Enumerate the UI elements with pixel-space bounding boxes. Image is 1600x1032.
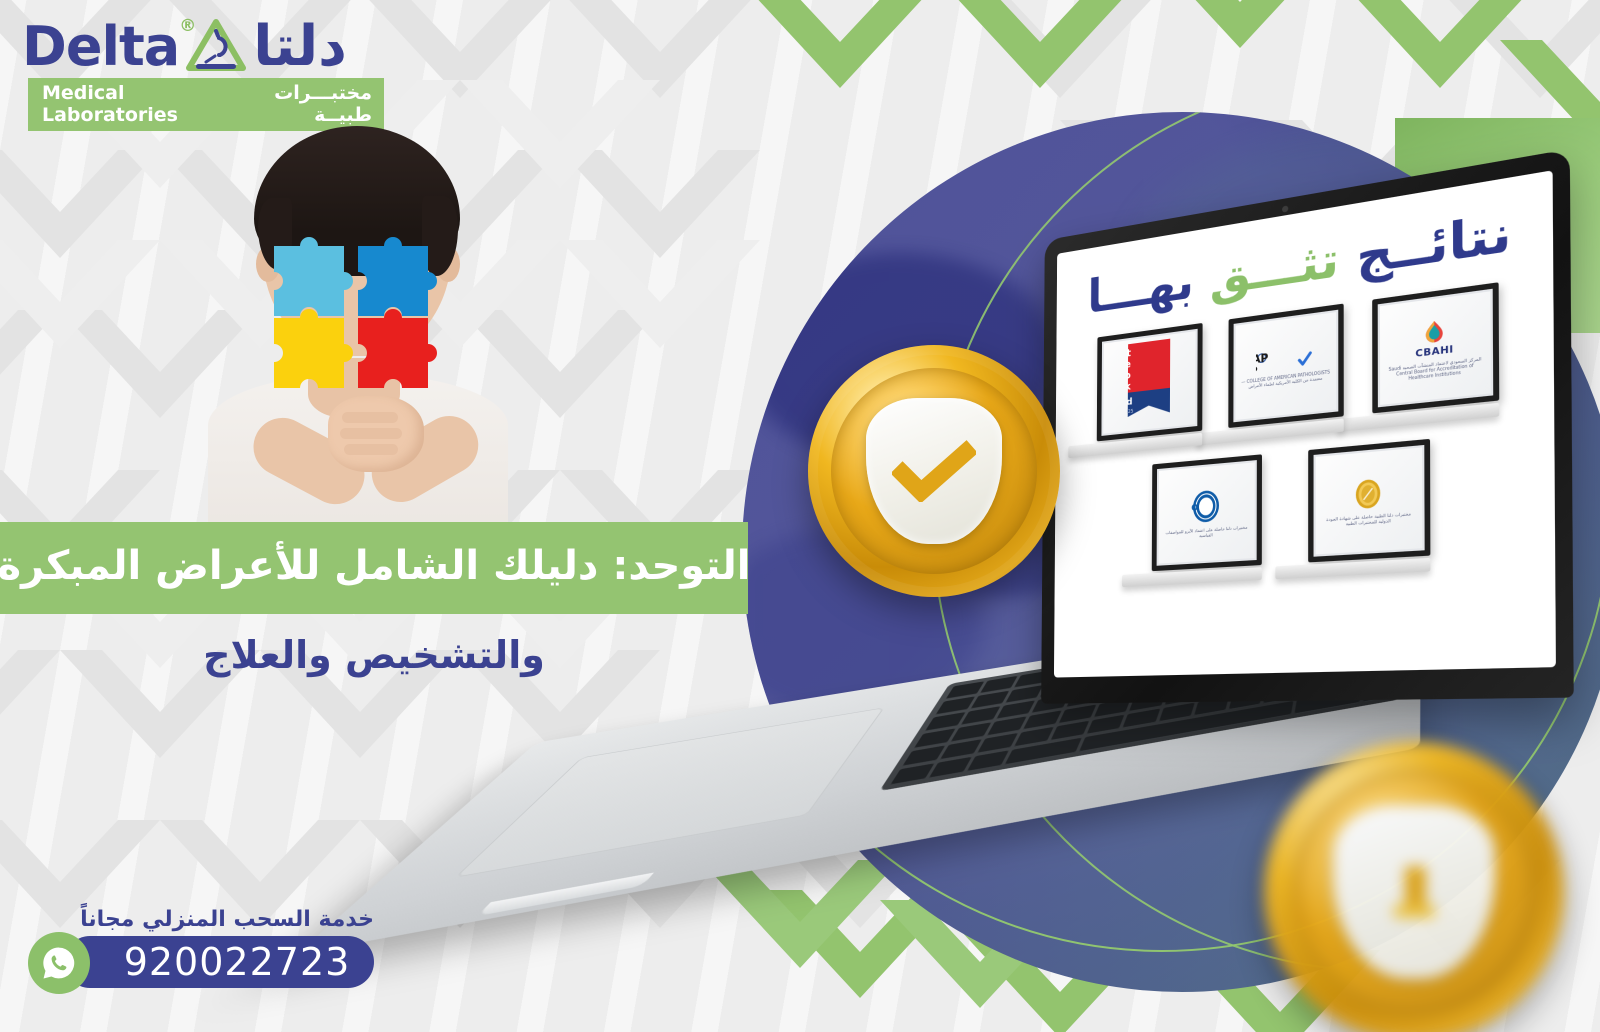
logo-text-ar: دلتا — [253, 19, 347, 75]
svg-text:CAP: CAP — [1256, 353, 1268, 368]
brand-logo: Delta ® دلتا Medical Laboratories مختبــ… — [14, 18, 384, 131]
logo-tagline-ar: مختبـــرات طبيــة — [234, 82, 372, 126]
gptw-badge-icon: Great Place To Work. Certified JAN 2024-… — [1127, 337, 1171, 428]
cap-checkmark-icon: CAP ACCREDITED — [1256, 344, 1315, 375]
finger — [340, 428, 402, 439]
certificate-frame: CBAHI المركز السعودي لاعتماد المنشآت الص… — [1372, 282, 1499, 413]
checkmark-icon — [892, 440, 976, 501]
autism-puzzle-pieces — [264, 232, 440, 392]
certificate-cap: CAP ACCREDITED COLLEGE OF AMERICAN PATHO… — [1228, 303, 1343, 442]
shield-shape — [866, 398, 1002, 544]
puzzle-piece-blue — [358, 237, 437, 316]
certificate-cbahi: CBAHI المركز السعودي لاعتماد المنشآت الص… — [1372, 282, 1499, 429]
phone-number-pill[interactable]: 920022723 — [64, 936, 374, 988]
certificate-inner: مختبرات دلتا الطبية حاصلة على شهادة الجو… — [1314, 445, 1425, 557]
child-photo — [198, 126, 518, 546]
laptop-screen: نتائــج تثـــق بهـــا — [1054, 170, 1556, 677]
laptop-lid: نتائــج تثـــق بهـــا — [1041, 149, 1574, 704]
child-arms — [242, 376, 490, 546]
certificate-subtitle: مختبرات دلتا حاصلة على اعتماد الآيزو للم… — [1163, 525, 1251, 541]
screen-headline-part2: تثـــق — [1210, 230, 1339, 307]
screen-headline-part1: نتائــج — [1356, 202, 1511, 285]
contact-block: خدمة السحب المنزلي مجاناً 920022723 — [28, 907, 388, 992]
certificate-name: CBAHI — [1415, 345, 1453, 361]
certificate-inner: CAP ACCREDITED COLLEGE OF AMERICAN PATHO… — [1233, 310, 1338, 423]
certificate-subtitle: مختبرات دلتا الطبية حاصلة على شهادة الجو… — [1320, 511, 1418, 529]
webcam-icon — [1282, 205, 1288, 212]
puzzle-piece-lightblue — [274, 237, 353, 316]
certificate-row-2: مختبرات دلتا الطبية حاصلة على شهادة الجو… — [1073, 430, 1531, 590]
certificate-frame: Great Place To Work. Certified JAN 2024-… — [1097, 323, 1203, 441]
microscope-triangle-icon: ® — [185, 18, 247, 76]
svg-text:ACCREDITED: ACCREDITED — [1256, 366, 1258, 375]
gold-coin-blurred-icon — [1264, 742, 1564, 1032]
certificate-iso: ISO مختبرات دلتا حاصلة على اعتماد الآيزو… — [1152, 454, 1262, 585]
certificate-inner: ISO مختبرات دلتا حاصلة على اعتماد الآيزو… — [1157, 460, 1257, 566]
poster-canvas: Delta ® دلتا Medical Laboratories مختبــ… — [0, 0, 1600, 1032]
phone-row[interactable]: 920022723 — [28, 936, 388, 992]
certificate-inner: Great Place To Work. Certified JAN 2024-… — [1101, 329, 1197, 436]
iso-seal-icon: ISO — [1191, 488, 1221, 526]
logo-tagline-en: Medical Laboratories — [42, 82, 234, 126]
gold-coin-shield-check-icon — [808, 345, 1060, 597]
certificate-stand — [1276, 558, 1431, 579]
svg-text:JAN 2024-JAN 2025: JAN 2024-JAN 2025 — [1127, 408, 1134, 419]
certificate-inner: CBAHI المركز السعودي لاعتماد المنشآت الص… — [1378, 289, 1493, 408]
certificate-frame: مختبرات دلتا الطبية حاصلة على شهادة الجو… — [1308, 439, 1430, 563]
award-glyph-icon — [1364, 855, 1464, 928]
logo-text-en: Delta — [22, 20, 179, 74]
certificate-grid: CBAHI المركز السعودي لاعتماد المنشآت الص… — [1073, 278, 1531, 590]
child-hands — [328, 396, 424, 472]
shield-shape — [1333, 805, 1495, 979]
subheadline-text: والتشخيص والعلاج — [203, 633, 545, 677]
certificate-gptw: Great Place To Work. Certified JAN 2024-… — [1097, 323, 1203, 456]
certificate-gold-medal: مختبرات دلتا الطبية حاصلة على شهادة الجو… — [1308, 439, 1430, 578]
screen-headline-part3: بهـــا — [1087, 253, 1194, 324]
certificate-frame: ISO مختبرات دلتا حاصلة على اعتماد الآيزو… — [1152, 454, 1262, 571]
finger — [344, 444, 398, 455]
logo-tagline-band: Medical Laboratories مختبـــرات طبيــة — [28, 78, 384, 131]
whatsapp-icon[interactable] — [28, 932, 90, 994]
finger — [342, 412, 398, 423]
phone-number: 920022723 — [124, 940, 351, 984]
certificate-subtitle: المركز السعودي لاعتماد المنشآت الصحية Sa… — [1385, 356, 1486, 384]
certificate-frame: CAP ACCREDITED COLLEGE OF AMERICAN PATHO… — [1228, 303, 1343, 427]
cbahi-droplet-icon — [1422, 318, 1447, 346]
certificate-stand — [1122, 567, 1262, 587]
home-service-label: خدمة السحب المنزلي مجاناً — [28, 907, 388, 932]
gold-medal-icon — [1354, 477, 1383, 512]
svg-text:ISO: ISO — [1191, 503, 1199, 514]
certificate-subtitle: COLLEGE OF AMERICAN PATHOLOGISTS — معتمد… — [1240, 369, 1332, 390]
